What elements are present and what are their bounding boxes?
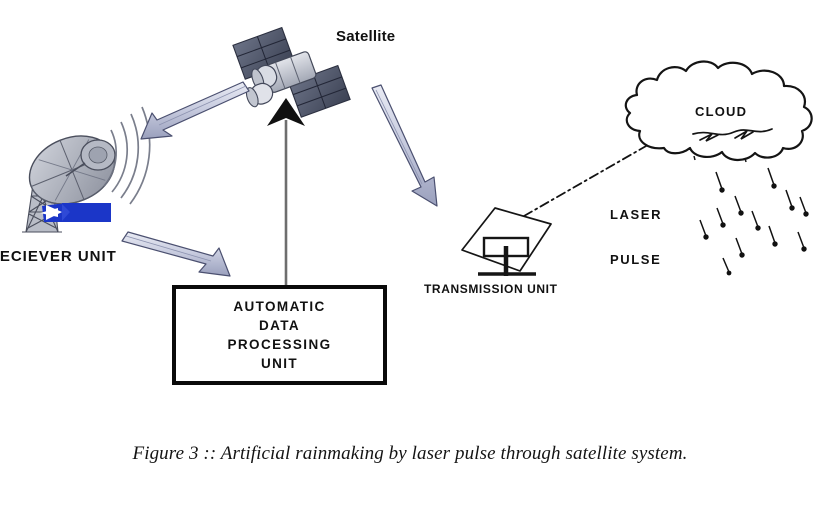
- figure-canvas: Satellite CLOUD LASER PULSE RECIEVER UNI…: [0, 0, 820, 512]
- arrow-satellite-to-reciever: [141, 82, 249, 139]
- arrow-adpu-to-satellite: [267, 98, 305, 285]
- raindrops-icon: [700, 168, 809, 275]
- satellite-dish-icon: [19, 107, 149, 232]
- dish-banner: [40, 203, 111, 222]
- automatic-data-processing-unit-box: AUTOMATIC DATA PROCESSING UNIT: [172, 285, 387, 385]
- label-laser-pulse: LASER PULSE: [610, 178, 662, 298]
- laser-transmitter-icon: [462, 208, 551, 276]
- figure-caption: Figure 3 :: Artificial rainmaking by las…: [0, 443, 820, 465]
- label-satellite: Satellite: [336, 28, 395, 45]
- arrow-satellite-to-transmission: [372, 85, 437, 206]
- label-transmission-unit: TRANSMISSION UNIT: [424, 283, 558, 297]
- label-reciever-unit: RECIEVER UNIT: [0, 248, 117, 265]
- satellite-icon: [233, 28, 350, 118]
- label-laser-pulse-line2: PULSE: [610, 253, 662, 268]
- label-cloud: CLOUD: [695, 105, 747, 120]
- label-laser-pulse-line1: LASER: [610, 208, 662, 223]
- adpu-label: AUTOMATIC DATA PROCESSING UNIT: [227, 297, 331, 374]
- diagram-graphics: [0, 0, 820, 512]
- arrow-reciever-to-adpu: [122, 232, 230, 276]
